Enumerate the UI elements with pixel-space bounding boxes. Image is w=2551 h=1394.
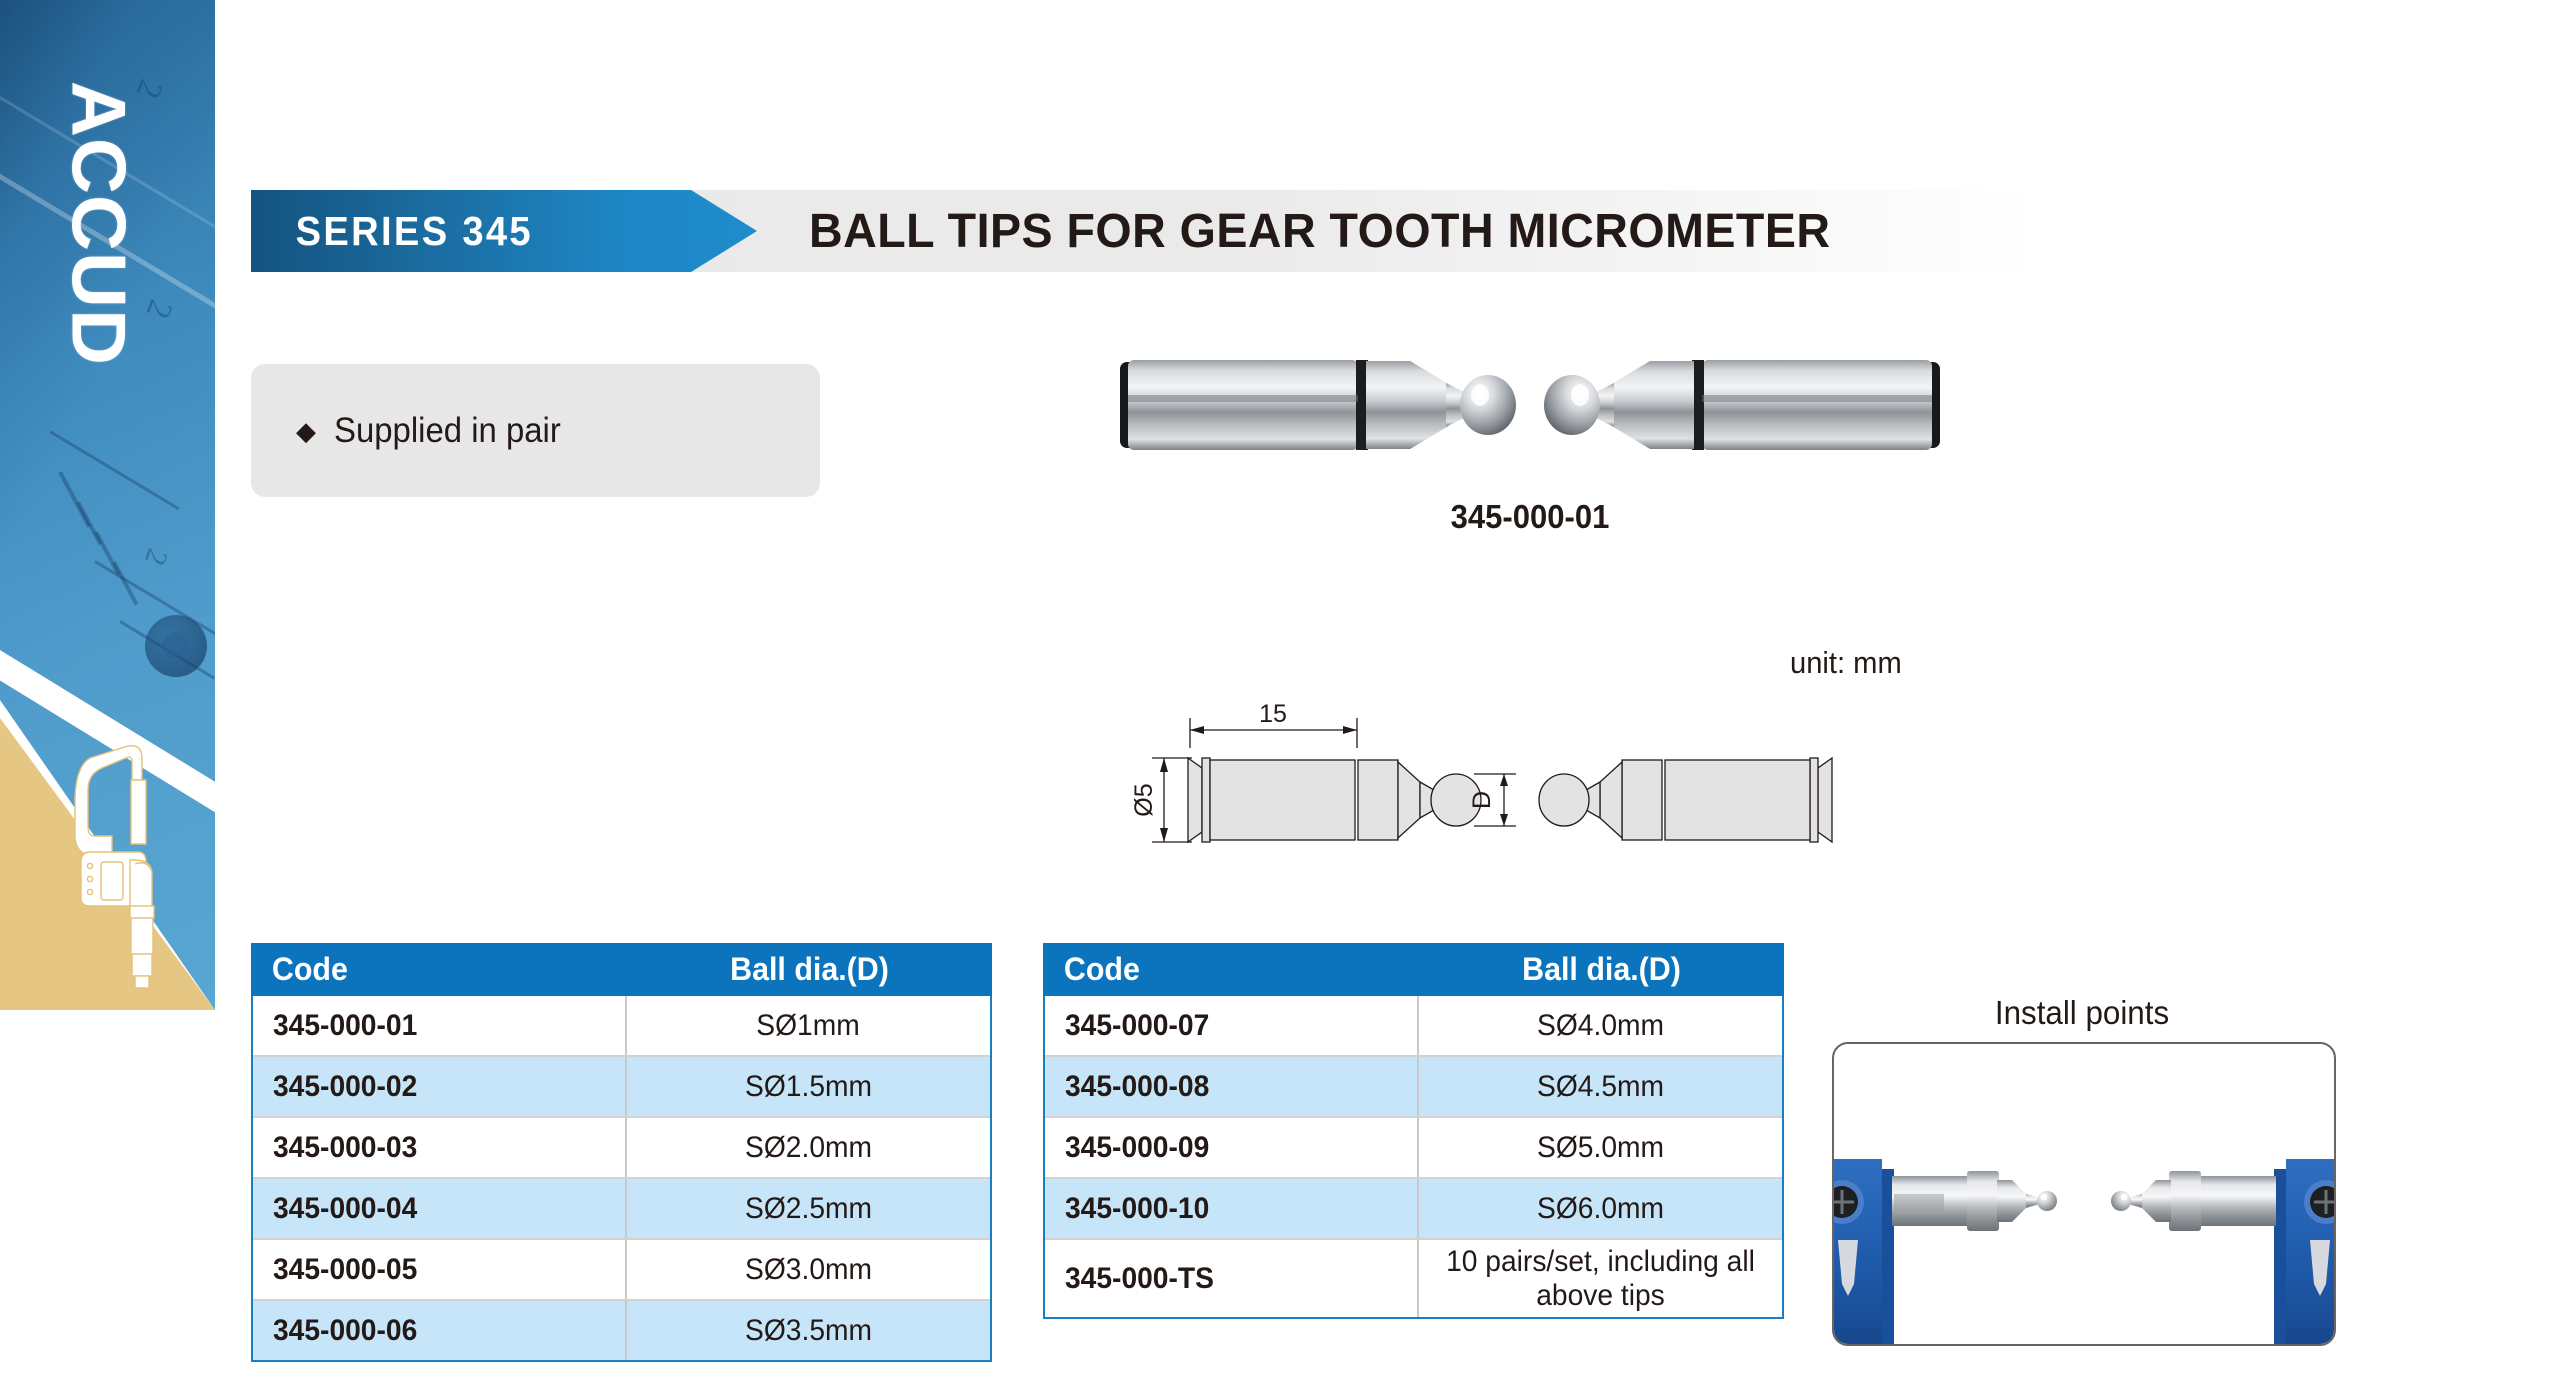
dim-ball-label: D bbox=[1468, 791, 1496, 809]
cell-code: 345-000-01 bbox=[253, 996, 627, 1055]
table-row[interactable]: 345-000-03 SØ2.0mm bbox=[253, 1118, 990, 1179]
table-row[interactable]: 345-000-07 SØ4.0mm bbox=[1045, 996, 1782, 1057]
series-badge: SERIES 345 bbox=[251, 190, 757, 272]
install-points-title: Install points bbox=[1845, 994, 2320, 1032]
table-row[interactable]: 345-000-01 SØ1mm bbox=[253, 996, 990, 1057]
cell-ball-dia: 10 pairs/set, including all above tips bbox=[1419, 1240, 1782, 1317]
product-photo bbox=[1110, 345, 1950, 465]
brand-sidebar: 2 2 2 ACCUD bbox=[0, 0, 215, 1010]
features-box: ◆ Supplied in pair bbox=[251, 364, 820, 497]
accud-logo: ACCUD bbox=[55, 71, 142, 377]
cell-ball-dia: SØ2.5mm bbox=[627, 1179, 990, 1238]
column-header-code: Code bbox=[1064, 951, 1140, 988]
cell-code: 345-000-08 bbox=[1045, 1057, 1419, 1116]
table-row[interactable]: 345-000-09 SØ5.0mm bbox=[1045, 1118, 1782, 1179]
column-header-code: Code bbox=[272, 951, 348, 988]
dim-length-label: 15 bbox=[1259, 700, 1287, 728]
table-row[interactable]: 345-000-08 SØ4.5mm bbox=[1045, 1057, 1782, 1118]
cell-code: 345-000-03 bbox=[253, 1118, 627, 1177]
feature-text: Supplied in pair bbox=[334, 411, 561, 451]
cell-ball-dia: SØ1mm bbox=[627, 996, 990, 1055]
cell-ball-dia: SØ4.0mm bbox=[1419, 996, 1782, 1055]
table-body: 345-000-01 SØ1mm 345-000-02 SØ1.5mm 345-… bbox=[251, 996, 992, 1362]
table-row[interactable]: 345-000-02 SØ1.5mm bbox=[253, 1057, 990, 1118]
product-caption: 345-000-01 bbox=[1135, 498, 1925, 536]
cell-code: 345-000-09 bbox=[1045, 1118, 1419, 1177]
spec-table-left: Code Ball dia.(D) 345-000-01 SØ1mm 345-0… bbox=[251, 943, 992, 1362]
dim-diameter-label: Ø5 bbox=[1130, 783, 1158, 816]
cell-ball-dia: SØ4.5mm bbox=[1419, 1057, 1782, 1116]
cell-ball-dia: SØ2.0mm bbox=[627, 1118, 990, 1177]
install-points-photo-frame bbox=[1832, 1042, 2336, 1346]
cell-code: 345-000-04 bbox=[253, 1179, 627, 1238]
table-row[interactable]: 345-000-10 SØ6.0mm bbox=[1045, 1179, 1782, 1240]
series-badge-label: SERIES 345 bbox=[251, 208, 533, 255]
table-row[interactable]: 345-000-06 SØ3.5mm bbox=[253, 1301, 990, 1360]
cell-code: 345-000-02 bbox=[253, 1057, 627, 1116]
page-title: BALL TIPS FOR GEAR TOOTH MICROMETER bbox=[809, 190, 1830, 272]
cell-code: 345-000-05 bbox=[253, 1240, 627, 1299]
table-body: 345-000-07 SØ4.0mm 345-000-08 SØ4.5mm 34… bbox=[1043, 996, 1784, 1319]
cell-ball-dia: SØ3.5mm bbox=[627, 1301, 990, 1360]
column-header-ball-dia: Ball dia.(D) bbox=[1522, 951, 1681, 988]
cell-code: 345-000-06 bbox=[253, 1301, 627, 1360]
cell-ball-dia: SØ5.0mm bbox=[1419, 1118, 1782, 1177]
technical-drawing: 15 Ø5 D bbox=[1130, 700, 1890, 850]
cell-ball-dia: SØ6.0mm bbox=[1419, 1179, 1782, 1238]
spec-table-right: Code Ball dia.(D) 345-000-07 SØ4.0mm 345… bbox=[1043, 943, 1784, 1319]
install-points-photo bbox=[1834, 1044, 2334, 1344]
table-row[interactable]: 345-000-04 SØ2.5mm bbox=[253, 1179, 990, 1240]
cell-ball-dia: SØ1.5mm bbox=[627, 1057, 990, 1116]
unit-label: unit: mm bbox=[1790, 645, 1902, 681]
cell-ball-dia: SØ3.0mm bbox=[627, 1240, 990, 1299]
table-header-row: Code Ball dia.(D) bbox=[251, 943, 992, 996]
cell-code: 345-000-07 bbox=[1045, 996, 1419, 1055]
diamond-bullet-icon: ◆ bbox=[296, 418, 316, 444]
page-header: SERIES 345 BALL TIPS FOR GEAR TOOTH MICR… bbox=[251, 190, 2041, 272]
table-row[interactable]: 345-000-05 SØ3.0mm bbox=[253, 1240, 990, 1301]
column-header-ball-dia: Ball dia.(D) bbox=[730, 951, 889, 988]
cell-code: 345-000-TS bbox=[1045, 1240, 1419, 1317]
table-row[interactable]: 345-000-TS 10 pairs/set, including all a… bbox=[1045, 1240, 1782, 1317]
table-header-row: Code Ball dia.(D) bbox=[1043, 943, 1784, 996]
cell-code: 345-000-10 bbox=[1045, 1179, 1419, 1238]
micrometer-icon bbox=[68, 740, 173, 990]
